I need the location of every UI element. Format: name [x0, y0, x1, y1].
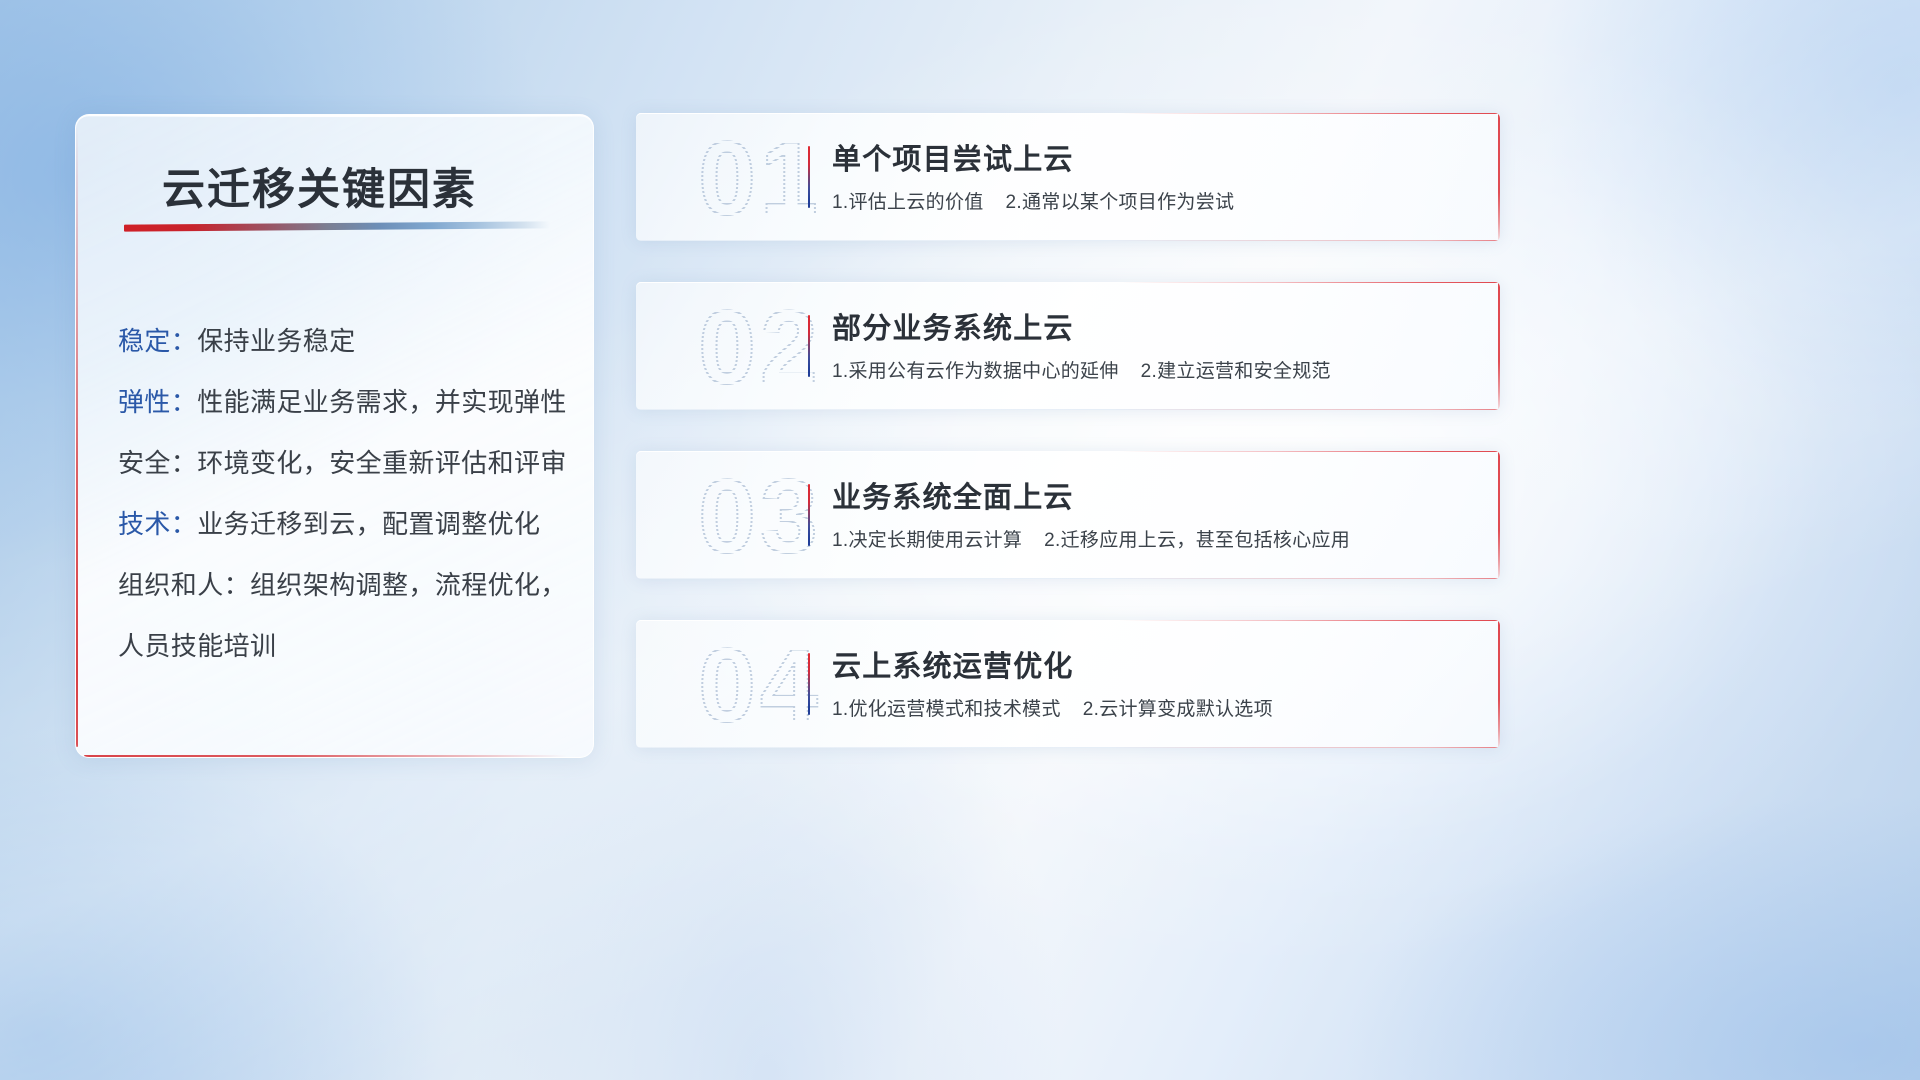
list-item-text: 人员技能培训 — [118, 631, 276, 661]
card-description: 1.决定长期使用云计算2.迁移应用上云，甚至包括核心应用 — [832, 525, 1350, 552]
stage-card[interactable]: 03 业务系统全面上云 1.决定长期使用云计算2.迁移应用上云，甚至包括核心应用 — [636, 451, 1500, 579]
list-item-label: 弹性： — [118, 387, 197, 417]
card-desc-item-2: 2.迁移应用上云，甚至包括核心应用 — [1044, 530, 1350, 551]
card-desc-item-1: 1.优化运营模式和技术模式 — [832, 699, 1061, 720]
card-desc-item-1: 1.采用公有云作为数据中心的延伸 — [832, 361, 1119, 382]
card-bottom-edge — [636, 578, 1500, 579]
card-bottom-edge — [636, 409, 1500, 410]
card-top-edge — [636, 620, 1500, 621]
page-title: 云迁移关键因素 — [162, 155, 477, 217]
card-title: 云上系统运营优化 — [832, 643, 1074, 685]
migration-stage-cards: 01 单个项目尝试上云 1.评估上云的价值2.通常以某个项目作为尝试 02 部分… — [636, 113, 1500, 789]
card-title: 部分业务系统上云 — [832, 305, 1074, 347]
stage-card[interactable]: 04 云上系统运营优化 1.优化运营模式和技术模式2.云计算变成默认选项 — [636, 620, 1500, 748]
stage-number-03: 03 — [660, 461, 860, 573]
list-item-text: 保持业务稳定 — [197, 326, 355, 356]
card-description: 1.评估上云的价值2.通常以某个项目作为尝试 — [832, 187, 1234, 214]
list-item-text: 业务迁移到云，配置调整优化 — [197, 509, 540, 539]
panel-top-highlight — [76, 115, 593, 117]
panel-bottom-red-accent — [84, 755, 567, 757]
card-desc-item-1: 1.评估上云的价值 — [832, 192, 984, 213]
list-item: 安全：环境变化，安全重新评估和评审 — [118, 433, 571, 494]
list-item-label: 安全： — [118, 448, 197, 478]
list-item-label: 技术： — [118, 509, 197, 539]
list-item-continuation: 人员技能培训 — [118, 616, 571, 677]
stage-card[interactable]: 02 部分业务系统上云 1.采用公有云作为数据中心的延伸2.建立运营和安全规范 — [636, 282, 1500, 410]
stage-number-04: 04 — [660, 630, 860, 742]
card-right-red-edge — [1498, 282, 1500, 410]
list-item-text: 组织架构调整，流程优化， — [250, 570, 567, 600]
stage-number-02: 02 — [660, 292, 860, 404]
stage-number-01: 01 — [660, 123, 860, 235]
card-right-red-edge — [1498, 620, 1500, 748]
card-title: 单个项目尝试上云 — [832, 136, 1074, 178]
card-description: 1.采用公有云作为数据中心的延伸2.建立运营和安全规范 — [832, 356, 1331, 383]
card-desc-item-2: 2.通常以某个项目作为尝试 — [1006, 192, 1235, 213]
card-desc-item-2: 2.云计算变成默认选项 — [1083, 699, 1273, 720]
title-gradient-rule — [124, 221, 550, 231]
list-item-text: 性能满足业务需求，并实现弹性 — [197, 387, 567, 417]
stage-card[interactable]: 01 单个项目尝试上云 1.评估上云的价值2.通常以某个项目作为尝试 — [636, 113, 1500, 241]
list-item: 弹性：性能满足业务需求，并实现弹性 — [118, 372, 571, 433]
card-right-red-edge — [1498, 451, 1500, 579]
card-top-edge — [636, 113, 1500, 114]
card-bottom-edge — [636, 747, 1500, 748]
key-factors-list: 稳定：保持业务稳定 弹性：性能满足业务需求，并实现弹性 安全：环境变化，安全重新… — [118, 311, 571, 677]
key-factors-panel: 云迁移关键因素 稳定：保持业务稳定 弹性：性能满足业务需求，并实现弹性 安全：环… — [75, 114, 594, 758]
card-description: 1.优化运营模式和技术模式2.云计算变成默认选项 — [832, 694, 1273, 721]
list-item: 稳定：保持业务稳定 — [118, 311, 571, 372]
card-desc-item-2: 2.建立运营和安全规范 — [1141, 361, 1331, 382]
card-bottom-edge — [636, 240, 1500, 241]
list-item: 组织和人：组织架构调整，流程优化， — [118, 555, 571, 616]
slide-canvas: 云迁移关键因素 稳定：保持业务稳定 弹性：性能满足业务需求，并实现弹性 安全：环… — [0, 0, 1920, 1080]
card-top-edge — [636, 451, 1500, 452]
card-title: 业务系统全面上云 — [832, 474, 1074, 516]
card-desc-item-1: 1.决定长期使用云计算 — [832, 530, 1022, 551]
card-top-edge — [636, 282, 1500, 283]
card-right-red-edge — [1498, 113, 1500, 241]
list-item: 技术：业务迁移到云，配置调整优化 — [118, 494, 571, 555]
list-item-label: 稳定： — [118, 326, 197, 356]
panel-left-red-accent — [76, 125, 78, 747]
list-item-text: 环境变化，安全重新评估和评审 — [197, 448, 567, 478]
list-item-label: 组织和人： — [118, 570, 250, 600]
